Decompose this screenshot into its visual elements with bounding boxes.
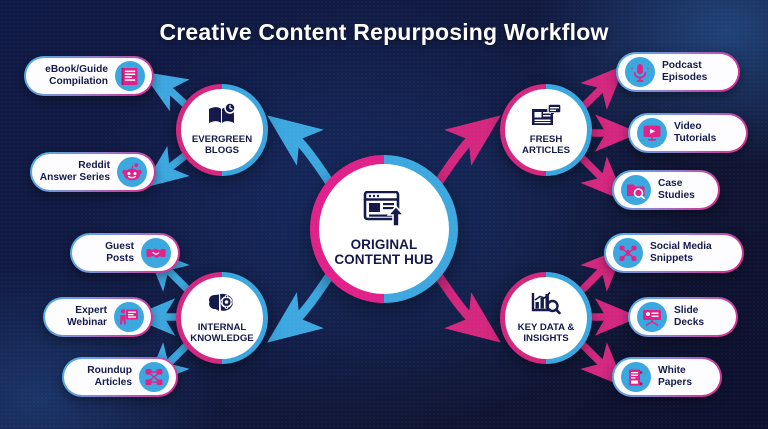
folder-search-icon	[621, 175, 651, 205]
browser-upload-icon	[363, 191, 405, 232]
presenter-screen-icon	[114, 302, 144, 332]
branch-label-line1: KEY DATA &	[518, 322, 575, 333]
brain-gear-icon	[207, 291, 237, 320]
leaf-case-studies[interactable]: Case Studies	[612, 170, 720, 210]
leaf-label-line2: Answer Series	[40, 172, 110, 183]
node-internal-knowledge[interactable]: INTERNAL KNOWLEDGE	[176, 272, 268, 364]
hub-label-line2: CONTENT HUB	[334, 252, 433, 267]
leaf-label-line2: Snippets	[650, 253, 693, 264]
document-scroll-icon	[621, 362, 651, 392]
leaf-label-line2: Decks	[674, 317, 704, 328]
leaf-label-line1: Expert	[75, 305, 107, 316]
leaf-video-tutorials[interactable]: Video Tutorials	[628, 113, 748, 153]
branch-label-line2: INSIGHTS	[523, 333, 568, 344]
leaf-guest-posts[interactable]: Guest Posts	[70, 233, 180, 273]
leaf-label-line2: Posts	[106, 253, 134, 264]
leaf-ebook-guide-compilation[interactable]: eBook/Guide Compilation	[24, 56, 154, 96]
leaf-expert-webinar[interactable]: Expert Webinar	[43, 297, 153, 337]
node-fresh-articles[interactable]: FRESH ARTICLES	[500, 84, 592, 176]
leaf-label-line1: Guest	[105, 241, 134, 252]
leaf-label-line2: Compilation	[49, 76, 108, 87]
node-key-data-insights[interactable]: KEY DATA & INSIGHTS	[500, 272, 592, 364]
leaf-label-line1: White	[658, 365, 686, 376]
leaf-label-line2: Papers	[658, 377, 692, 388]
node-evergreen-blogs[interactable]: EVERGREEN BLOGS	[176, 84, 268, 176]
leaf-podcast-episodes[interactable]: Podcast Episodes	[616, 52, 740, 92]
newspaper-icon	[531, 103, 562, 132]
microphone-icon	[625, 57, 655, 87]
leaf-label-line2: Episodes	[662, 72, 707, 83]
bar-chart-search-icon	[531, 291, 561, 320]
branch-label-line1: INTERNAL	[198, 322, 247, 333]
video-play-icon	[637, 118, 667, 148]
open-book-clock-icon	[207, 103, 237, 132]
leaf-label-line2: Studies	[658, 190, 695, 201]
hub-label-line1: ORIGINAL	[351, 237, 418, 252]
leaf-slide-decks[interactable]: Slide Decks	[628, 297, 738, 337]
leaf-label-line1: Slide	[674, 305, 698, 316]
leaf-social-media-snippets[interactable]: Social Media Snippets	[604, 233, 744, 273]
ebook-icon	[115, 61, 145, 91]
leaf-label-line2: Webinar	[67, 317, 107, 328]
leaf-label-line1: Case	[658, 178, 682, 189]
leaf-white-papers[interactable]: White Papers	[612, 357, 722, 397]
leaf-label-line1: Video	[674, 121, 702, 132]
leaf-label-line1: Social Media	[650, 241, 712, 252]
branch-label-line2: ARTICLES	[522, 145, 570, 156]
leaf-label-line1: eBook/Guide	[45, 64, 108, 75]
leaf-label-line2: Tutorials	[674, 133, 716, 144]
leaf-label-line1: Reddit	[78, 160, 110, 171]
projector-screen-icon	[637, 302, 667, 332]
leaf-roundup-articles[interactable]: Roundup Articles	[62, 357, 178, 397]
leaf-reddit-answer-series[interactable]: Reddit Answer Series	[30, 152, 156, 192]
branch-label-line1: FRESH	[530, 134, 563, 145]
leaf-label-line1: Podcast	[662, 60, 702, 71]
leaf-label-line2: Articles	[95, 377, 132, 388]
handshake-icon	[141, 238, 171, 268]
branch-label-line2: KNOWLEDGE	[190, 333, 253, 344]
share-network-icon	[613, 238, 643, 268]
diagram-canvas: Creative Content Repurposing Workflow	[0, 0, 768, 429]
branch-label-line1: EVERGREEN	[192, 134, 252, 145]
network-nodes-icon	[139, 362, 169, 392]
reddit-icon	[117, 157, 147, 187]
node-original-content-hub[interactable]: ORIGINAL CONTENT HUB	[310, 155, 458, 303]
branch-label-line2: BLOGS	[205, 145, 239, 156]
leaf-label-line1: Roundup	[87, 365, 132, 376]
